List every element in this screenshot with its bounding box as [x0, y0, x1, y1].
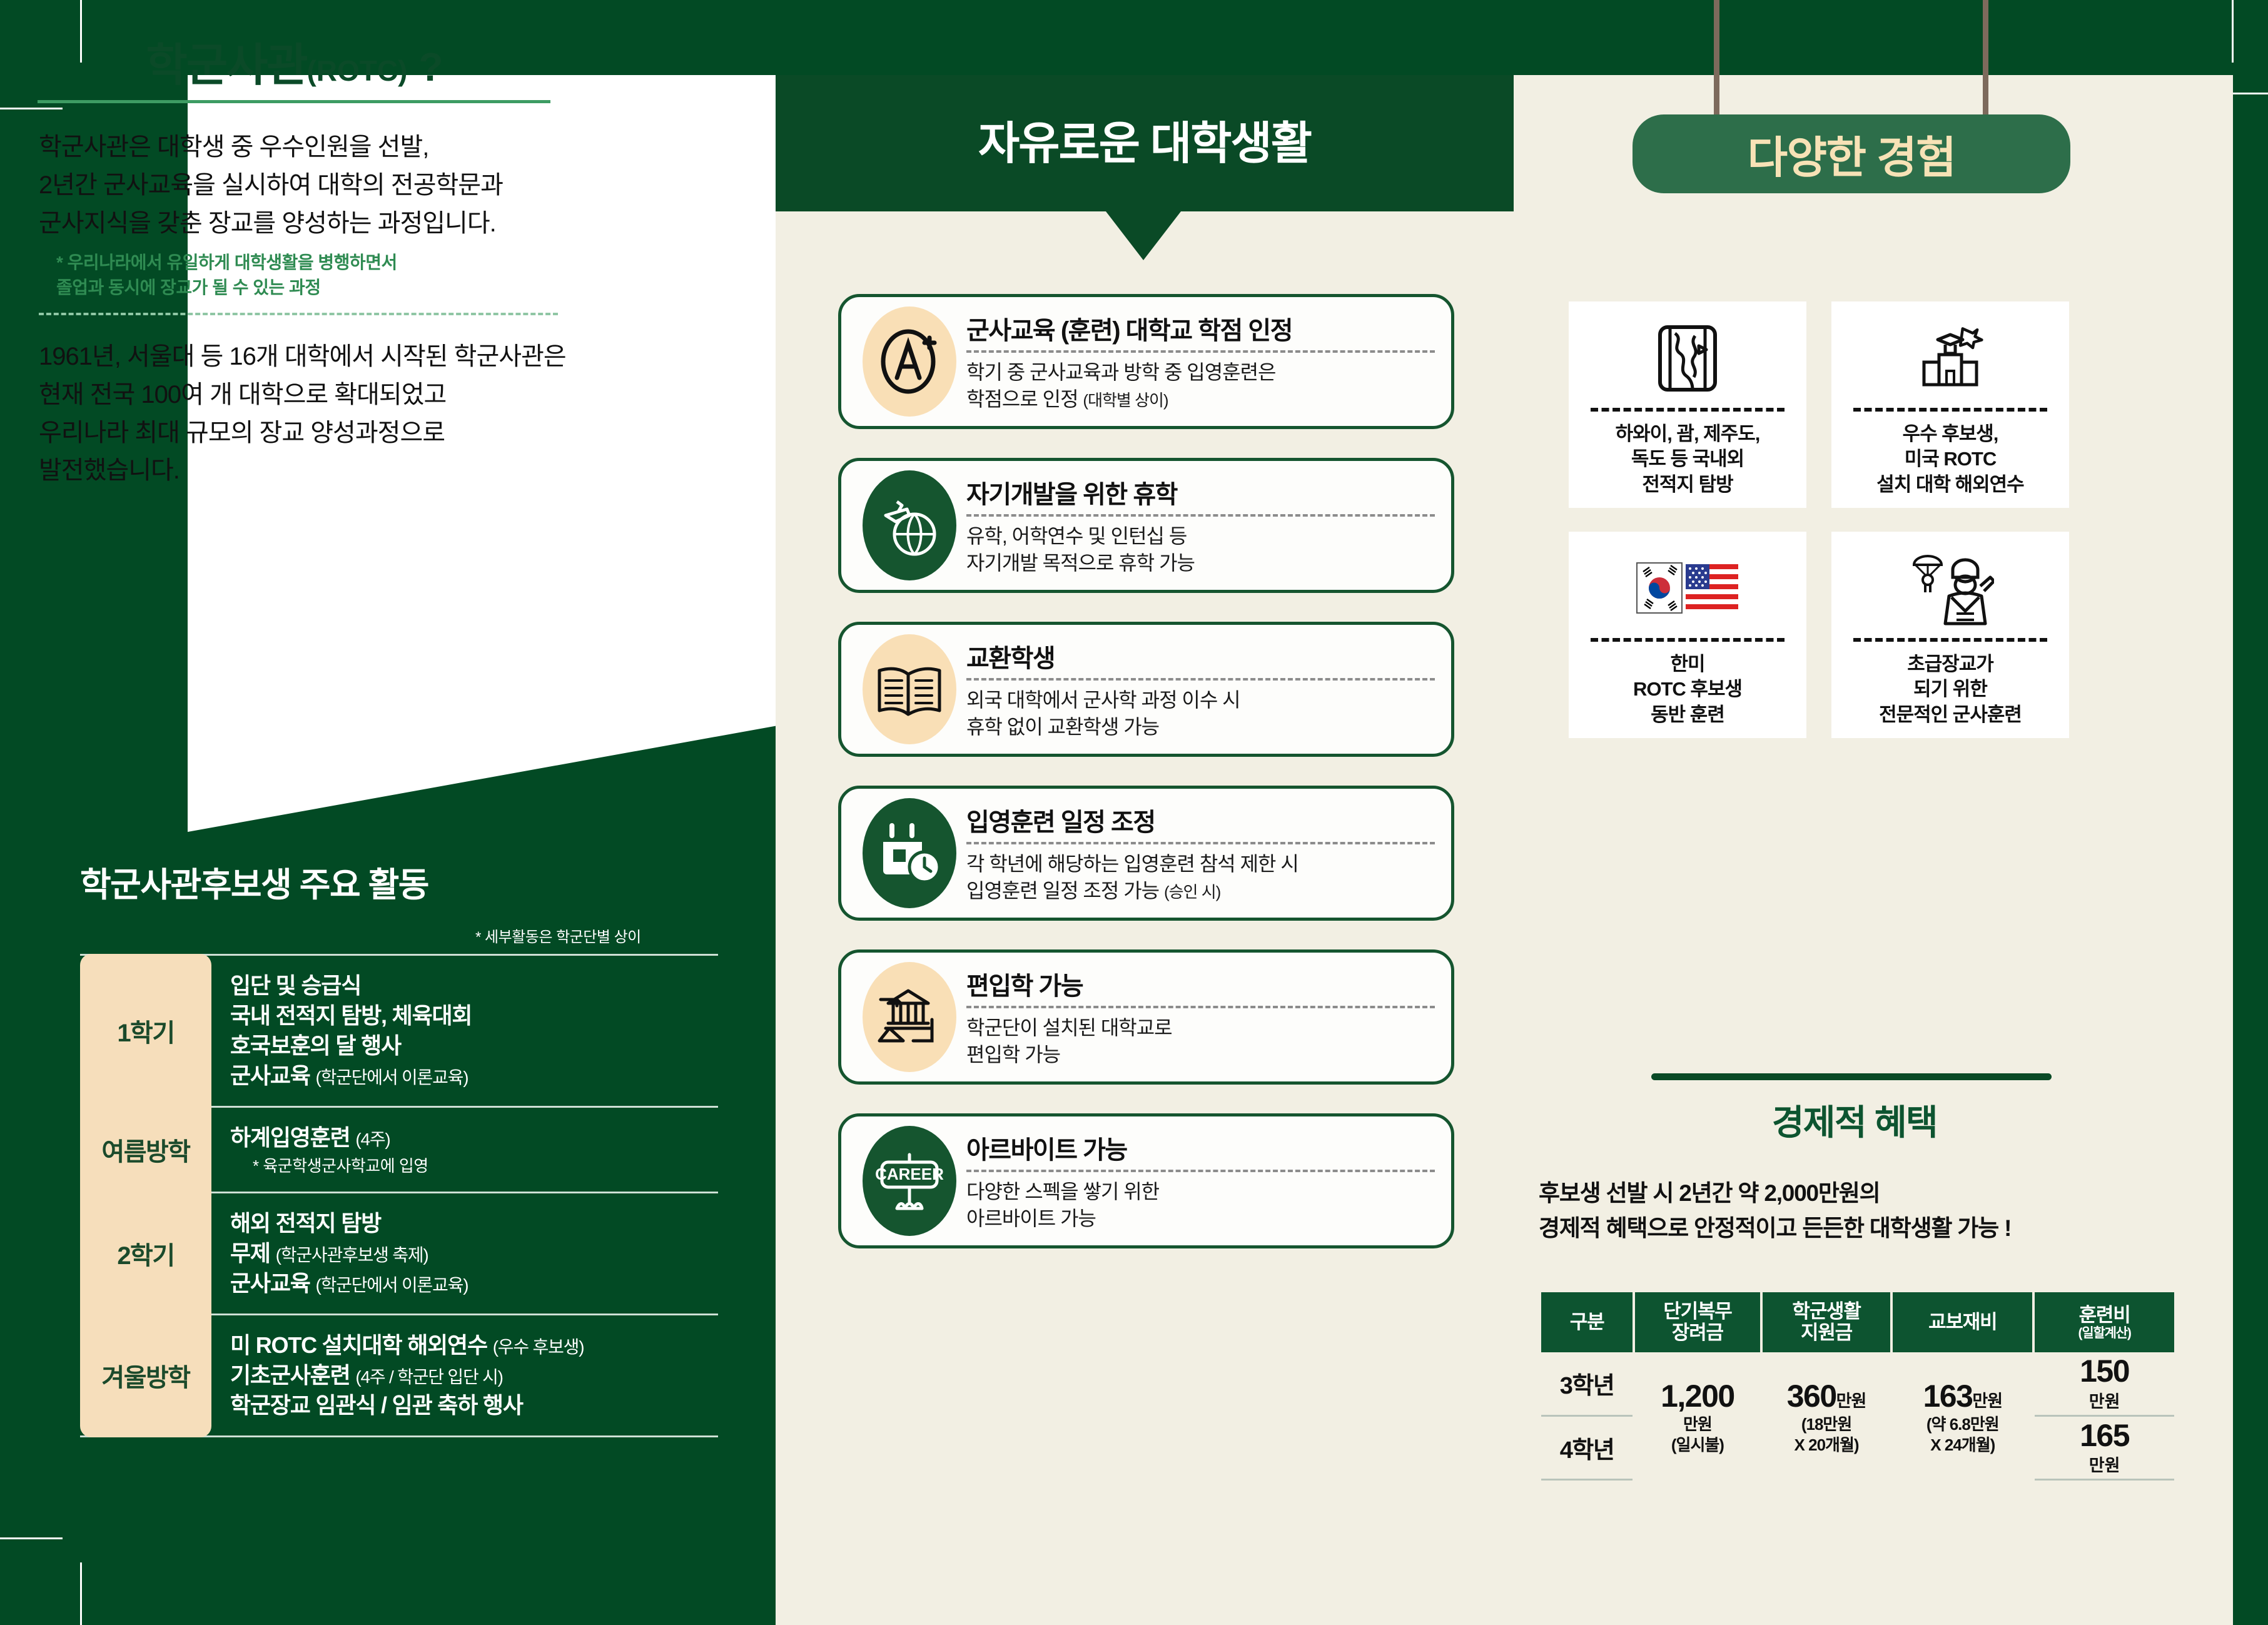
economic-section-title: 경제적 혜택 [1514, 1095, 2195, 1145]
card-divider [1853, 638, 2047, 642]
list-item: 군사교육 (학군단에서 이론교육) [230, 1061, 718, 1091]
table-row: 3학년 1,200 만원 (일시불) 360만원 (18만원 X 20개월) 1… [1541, 1352, 2174, 1417]
experience-label: 한미 ROTC 후보생 동반 훈련 [1633, 652, 1742, 727]
infographic-page: 학군사관(ROTC) ? 학군사관은 대학생 중 우수인원을 선발, 2년간 군… [0, 0, 2268, 1625]
column-header-training-fee-main: 훈련비 [2079, 1304, 2130, 1326]
card-icon-wrap [853, 796, 966, 910]
benefit-card-list: 군사교육 (훈련) 대학교 학점 인정 학기 중 군사교육과 방학 중 입영훈련… [838, 294, 1454, 1277]
column-header-training-fee: 훈련비 (일할계산) [2035, 1292, 2174, 1352]
cell-scholarship: 1,200 만원 (일시불) [1635, 1352, 1760, 1481]
activity-items: 입단 및 승급식 국내 전적지 탐방, 체육대회 호국보훈의 달 행사 군사교육… [211, 956, 718, 1106]
list-item-note: (4주) [355, 1130, 390, 1149]
column-header-living-support: 학군생활 지원금 [1763, 1292, 1891, 1352]
cell-materials-amount: 163 [1923, 1379, 1972, 1414]
card-divider [966, 1170, 1435, 1172]
university-airplane-icon [1910, 318, 1990, 399]
activity-term-label: 1학기 [80, 954, 211, 1108]
card-divider [966, 678, 1435, 681]
list-item-note: (학군단에서 이론교육) [315, 1275, 468, 1295]
card-description: 학기 중 군사교육과 방학 중 입영훈련은 학점으로 인정 (대학별 상이) [966, 359, 1435, 413]
activity-section-note: * 세부활동은 학군단별 상이 [475, 924, 641, 946]
benefits-table: 구분 단기복무 장려금 학군생활 지원금 교보재비 훈련비 (일할계산) 3학년… [1539, 1292, 2177, 1481]
card-text: 군사교육 (훈련) 대학교 학점 인정 학기 중 군사교육과 방학 중 입영훈련… [966, 310, 1451, 413]
card-text: 아르바이트 가능 다양한 스펙을 쌓기 위한 아르바이트 가능 [966, 1130, 1451, 1232]
cell-scholarship-unit: 만원 [1636, 1414, 1759, 1435]
cell-materials-unit: 만원 [1972, 1392, 2002, 1410]
card-description: 다양한 스펙을 쌓기 위한 아르바이트 가능 [966, 1178, 1435, 1232]
list-item-main: 군사교육 [230, 1063, 315, 1088]
activity-table: 1학기 입단 및 승급식 국내 전적지 탐방, 체육대회 호국보훈의 달 행사 … [80, 954, 718, 1437]
crop-mark-top-left-h [0, 108, 63, 109]
activity-items: 미 ROTC 설치대학 해외연수 (우수 후보생) 기초군사훈련 (4주 / 학… [211, 1315, 718, 1435]
card-description-main: 각 학년에 해당하는 입영훈련 참석 제한 시 입영훈련 일정 조정 가능 [966, 853, 1299, 902]
card-title: 군사교육 (훈련) 대학교 학점 인정 [966, 310, 1435, 347]
card-title: 자기개발을 위한 휴학 [966, 474, 1435, 510]
open-book-icon [863, 634, 956, 744]
activity-items: 해외 전적지 탐방 무제 (학군사관후보생 축제) 군사교육 (학군단에서 이론… [211, 1193, 718, 1314]
list-item-main: 군사교육 [230, 1270, 315, 1296]
cell-living-note: (18만원 X 20개월) [1764, 1414, 1890, 1455]
list-item[interactable]: 입영훈련 일정 조정 각 학년에 해당하는 입영훈련 참석 제한 시 입영훈련 … [838, 786, 1454, 921]
card-icon-wrap: CAREER [853, 1124, 966, 1238]
cell-materials-note: (약 6.8만원 X 24개월) [1894, 1414, 2031, 1455]
list-item: 해외 전적지 탐방 [230, 1208, 718, 1238]
card-icon-wrap [853, 305, 966, 418]
cell-living-amount: 360 [1787, 1379, 1836, 1414]
card-divider [1591, 408, 1785, 412]
experience-header-title: 다양한 경험 [1748, 123, 1955, 186]
cell-living-support: 360만원 (18만원 X 20개월) [1763, 1352, 1891, 1481]
card-title: 입영훈련 일정 조정 [966, 802, 1435, 838]
activity-section-title: 학군사관후보생 주요 활동 [80, 857, 428, 906]
economic-section-description: 후보생 선발 시 2년간 약 2,000만원의 경제적 혜택으로 안정적이고 든… [1539, 1176, 2202, 1245]
calendar-clock-icon [863, 798, 956, 908]
column-header-category: 구분 [1541, 1292, 1633, 1352]
table-header-row: 구분 단기복무 장려금 학군생활 지원금 교보재비 훈련비 (일할계산) [1541, 1292, 2174, 1352]
card-divider [966, 842, 1435, 844]
row-label-grade4: 4학년 [1541, 1417, 1633, 1481]
list-item[interactable]: 교환학생 외국 대학에서 군사학 과정 이수 시 휴학 없이 교환학생 가능 [838, 622, 1454, 757]
cell-training3-unit: 만원 [2036, 1388, 2173, 1412]
transfer-school-icon [863, 962, 956, 1072]
cell-training-fee-grade4: 165 만원 [2035, 1417, 2174, 1481]
list-item[interactable]: CAREER 아르바이트 가능 다양한 스펙을 쌓기 위한 아르바이트 가능 [838, 1113, 1454, 1248]
svg-text:CAREER: CAREER [875, 1165, 944, 1183]
history-paragraph: 1961년, 서울대 등 16개 대학에서 시작된 학군사관은 현재 전국 10… [39, 338, 577, 490]
cell-scholarship-note: (일시불) [1636, 1435, 1759, 1455]
list-item-subnote: * 육군학생군사학교에 입영 [253, 1153, 718, 1177]
cell-training4-amount: 165 [2080, 1418, 2129, 1453]
table-row: 2학기 해외 전적지 탐방 무제 (학군사관후보생 축제) 군사교육 (학군단에… [80, 1192, 718, 1314]
experience-card-grid: 하와이, 괌, 제주도, 독도 등 국내외 전적지 탐방 우수 후보생, 미국 … [1569, 301, 2182, 738]
card-divider [966, 1006, 1435, 1008]
activity-items: 하계입영훈련 (4주) * 육군학생군사학교에 입영 [211, 1108, 718, 1192]
list-item[interactable]: 군사교육 (훈련) 대학교 학점 인정 학기 중 군사교육과 방학 중 입영훈련… [838, 294, 1454, 429]
crop-mark-bottom-left-v [80, 1562, 82, 1625]
card-text: 교환학생 외국 대학에서 군사학 과정 이수 시 휴학 없이 교환학생 가능 [966, 638, 1451, 741]
list-item-note: (학군단에서 이론교육) [315, 1068, 468, 1087]
card-icon-wrap [853, 960, 966, 1074]
page-title-rotc: (ROTC) [306, 54, 407, 87]
card-description: 외국 대학에서 군사학 과정 이수 시 휴학 없이 교환학생 가능 [966, 687, 1435, 741]
list-item[interactable]: 하와이, 괌, 제주도, 독도 등 국내외 전적지 탐방 [1569, 301, 1806, 508]
list-item-main: 무제 [230, 1240, 276, 1266]
list-item: 기초군사훈련 (4주 / 학군단 입단 시) [230, 1360, 718, 1390]
card-divider [966, 514, 1435, 517]
activity-term-label: 겨울방학 [80, 1314, 211, 1437]
column-header-scholarship: 단기복무 장려금 [1635, 1292, 1760, 1352]
list-item[interactable]: 우수 후보생, 미국 ROTC 설치 대학 해외연수 [1831, 301, 2069, 508]
list-item: 군사교육 (학군단에서 이론교육) [230, 1268, 718, 1298]
page-title-question: ? [418, 44, 442, 89]
cell-scholarship-amount: 1,200 [1661, 1379, 1734, 1414]
table-row: 여름방학 하계입영훈련 (4주) * 육군학생군사학교에 입영 [80, 1106, 718, 1192]
cell-training4-unit: 만원 [2036, 1452, 2173, 1476]
hanging-rope-left [1714, 0, 1719, 116]
card-title: 편입학 가능 [966, 966, 1435, 1002]
card-divider [966, 350, 1435, 353]
crop-mark-bottom-left-h [0, 1537, 63, 1539]
card-description-note: (대학별 상이) [1083, 391, 1168, 410]
korea-usa-flags-icon [1634, 548, 1741, 629]
list-item: 미 ROTC 설치대학 해외연수 (우수 후보생) [230, 1330, 718, 1360]
table-row: 겨울방학 미 ROTC 설치대학 해외연수 (우수 후보생) 기초군사훈련 (4… [80, 1314, 718, 1437]
card-description: 각 학년에 해당하는 입영훈련 참석 제한 시 입영훈련 일정 조정 가능 (승… [966, 851, 1435, 904]
experience-label: 우수 후보생, 미국 ROTC 설치 대학 해외연수 [1876, 422, 2023, 497]
card-description: 유학, 어학연수 및 인턴십 등 자기개발 목적으로 휴학 가능 [966, 523, 1435, 577]
card-text: 입영훈련 일정 조정 각 학년에 해당하는 입영훈련 참석 제한 시 입영훈련 … [966, 802, 1451, 904]
column-header-materials: 교보재비 [1893, 1292, 2032, 1352]
intro-footnote: * 우리나라에서 유일하게 대학생활을 병행하면서 졸업과 동시에 장교가 될 … [56, 250, 557, 300]
map-terrain-icon [1648, 318, 1728, 399]
title-divider [38, 100, 550, 103]
speech-bubble-tail [1106, 211, 1181, 260]
card-divider [1591, 638, 1785, 642]
card-icon-wrap [853, 468, 966, 582]
list-item-main: 미 ROTC 설치대학 해외연수 [230, 1332, 493, 1358]
intro-paragraph: 학군사관은 대학생 중 우수인원을 선발, 2년간 군사교육을 실시하여 대학의… [39, 128, 558, 242]
list-item: 학군장교 임관식 / 임관 축하 행사 [230, 1390, 718, 1420]
column-header-training-fee-note: (일할계산) [2037, 1326, 2172, 1340]
experience-label: 초급장교가 되기 위한 전문적인 군사훈련 [1879, 652, 2022, 727]
cell-training3-amount: 150 [2080, 1354, 2129, 1389]
cell-materials: 163만원 (약 6.8만원 X 24개월) [1893, 1352, 2032, 1481]
crop-mark-top-right-v [2232, 0, 2234, 63]
card-description-note: (승인 시) [1164, 883, 1220, 901]
list-item[interactable]: 편입학 가능 학군단이 설치된 대학교로 편입학 가능 [838, 949, 1454, 1085]
list-item: 입단 및 승급식 [230, 971, 718, 1001]
list-item-note: (4주 / 학군단 입단 시) [355, 1367, 502, 1387]
card-title: 아르바이트 가능 [966, 1130, 1435, 1166]
hanging-rope-right [1983, 0, 1988, 116]
list-item-note: (우수 후보생) [493, 1337, 584, 1357]
experience-header-pill: 다양한 경험 [1633, 114, 2070, 193]
card-text: 자기개발을 위한 휴학 유학, 어학연수 및 인턴십 등 자기개발 목적으로 휴… [966, 474, 1451, 577]
card-description: 학군단이 설치된 대학교로 편입학 가능 [966, 1015, 1435, 1068]
grade-a-plus-icon [863, 306, 956, 417]
experience-label: 하와이, 괌, 제주도, 독도 등 국내외 전적지 탐방 [1616, 422, 1760, 497]
table-row: 1학기 입단 및 승급식 국내 전적지 탐방, 체육대회 호국보훈의 달 행사 … [80, 954, 718, 1106]
list-item-main: 하계입영훈련 [230, 1125, 355, 1150]
career-sign-icon: CAREER [863, 1126, 956, 1236]
card-divider [1853, 408, 2047, 412]
activity-term-label: 여름방학 [80, 1106, 211, 1194]
airplane-globe-icon [863, 470, 956, 580]
page-title-main: 학군사관 [146, 41, 306, 91]
activity-term-label: 2학기 [80, 1192, 211, 1315]
list-item-note: (학군사관후보생 축제) [276, 1245, 428, 1265]
paratrooper-salute-icon [1906, 548, 1994, 629]
cell-living-unit: 만원 [1836, 1392, 1866, 1410]
college-life-header-title: 자유로운 대학생활 [776, 106, 1514, 172]
row-label-grade3: 3학년 [1541, 1352, 1633, 1417]
card-text: 편입학 가능 학군단이 설치된 대학교로 편입학 가능 [966, 966, 1451, 1068]
list-item: 하계입영훈련 (4주) [230, 1123, 718, 1153]
list-item: 무제 (학군사관후보생 축제) [230, 1238, 718, 1268]
list-item-main: 기초군사훈련 [230, 1362, 355, 1388]
list-item[interactable]: 초급장교가 되기 위한 전문적인 군사훈련 [1831, 532, 2069, 738]
economic-section-rule [1651, 1073, 2052, 1080]
list-item[interactable]: 한미 ROTC 후보생 동반 훈련 [1569, 532, 1806, 738]
card-title: 교환학생 [966, 638, 1435, 674]
card-icon-wrap [853, 632, 966, 746]
page-title: 학군사관(ROTC) ? [0, 28, 588, 94]
list-item[interactable]: 자기개발을 위한 휴학 유학, 어학연수 및 인턴십 등 자기개발 목적으로 휴… [838, 458, 1454, 593]
list-item: 호국보훈의 달 행사 [230, 1031, 718, 1061]
intro-dashed-divider [39, 313, 558, 315]
cell-training-fee-grade3: 150 만원 [2035, 1352, 2174, 1417]
list-item: 국내 전적지 탐방, 체육대회 [230, 1001, 718, 1031]
